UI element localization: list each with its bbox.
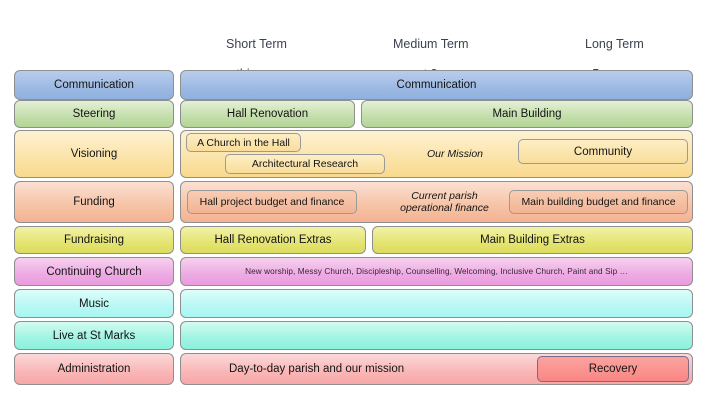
row-funding: Funding Hall project budget and finance … [0,181,720,223]
track-label-text: Day-to-day parish and our mission [229,363,404,375]
bar-steering-main-building: Main Building [361,100,693,128]
bar-funding-hall-project-budget: Hall project budget and finance [187,190,357,214]
bar-administration-recovery: Recovery [537,356,689,382]
bar-steering-hall-renovation: Hall Renovation [180,100,355,128]
row-label-live-at-st-marks: Live at St Marks [14,321,174,350]
row-live-at-st-marks: Live at St Marks [0,321,720,350]
row-label-administration: Administration [14,353,174,385]
row-label-visioning: Visioning [14,130,174,178]
row-label-text: Visioning [71,148,117,160]
track-continuing-church: New worship, Messy Church, Discipleship,… [180,257,693,286]
row-music: Music [0,289,720,318]
track-label-text: New worship, Messy Church, Discipleship,… [245,267,628,276]
row-label-continuing-church: Continuing Church [14,257,174,286]
row-label-music: Music [14,289,174,318]
track-live-at-st-marks [180,321,693,350]
row-label-communication: Communication [14,70,174,100]
row-label-text: Funding [73,196,115,208]
bar-label-text: Community [574,146,632,158]
row-label-text: Live at St Marks [53,330,135,342]
row-label-text: Communication [54,79,134,91]
bar-label-text: Hall Renovation Extras [215,234,332,246]
bar-label-text: Architectural Research [252,158,358,170]
row-fundraising: Fundraising Hall Renovation Extras Main … [0,226,720,254]
bar-visioning-a-church-in-the-hall: A Church in the Hall [186,133,301,152]
track-music [180,289,693,318]
bar-label-text: Main Building [492,108,561,120]
horizon-title: Short Term [226,37,287,52]
horizon-title: Long Term [585,37,644,52]
bar-label-text: A Church in the Hall [197,137,290,149]
row-label-text: Steering [73,108,116,120]
row-continuing-church: Continuing Church New worship, Messy Chu… [0,257,720,286]
row-label-text: Administration [58,363,131,375]
track-label-text: Communication [397,79,477,91]
row-steering: Steering Hall Renovation Main Building [0,100,720,128]
bar-fundraising-main-building-extras: Main Building Extras [372,226,693,254]
bar-label-text: Main building budget and finance [521,196,675,208]
row-visioning: Visioning A Church in the Hall Architect… [0,130,720,178]
row-label-text: Music [79,298,109,310]
row-label-steering: Steering [14,100,174,128]
annotation-text: Our Mission [427,148,483,161]
annotation-current-parish-operational-finance: Current parish operational finance [382,189,507,215]
track-communication: Communication [180,70,693,100]
bar-label-text: Main Building Extras [480,234,585,246]
row-label-fundraising: Fundraising [14,226,174,254]
bar-visioning-architectural-research: Architectural Research [225,154,385,174]
bar-funding-main-building-budget: Main building budget and finance [509,190,688,214]
horizon-title: Medium Term [393,37,472,52]
timeline-header-row: Short Term – this year Medium Term – nex… [0,0,720,68]
annotation-text: Current parish operational finance [400,190,489,215]
row-label-funding: Funding [14,181,174,223]
roadmap-diagram: Short Term – this year Medium Term – nex… [0,0,720,405]
bar-label-text: Hall project budget and finance [200,196,345,208]
annotation-our-mission: Our Mission [400,142,510,166]
bar-label-text: Hall Renovation [227,108,308,120]
row-label-text: Fundraising [64,234,124,246]
row-label-text: Continuing Church [46,266,141,278]
bar-fundraising-hall-renovation-extras: Hall Renovation Extras [180,226,366,254]
bar-visioning-community: Community [518,139,688,164]
bar-label-text: Recovery [589,363,638,375]
row-administration: Administration Day-to-day parish and our… [0,353,720,385]
row-communication: Communication Communication [0,70,720,100]
